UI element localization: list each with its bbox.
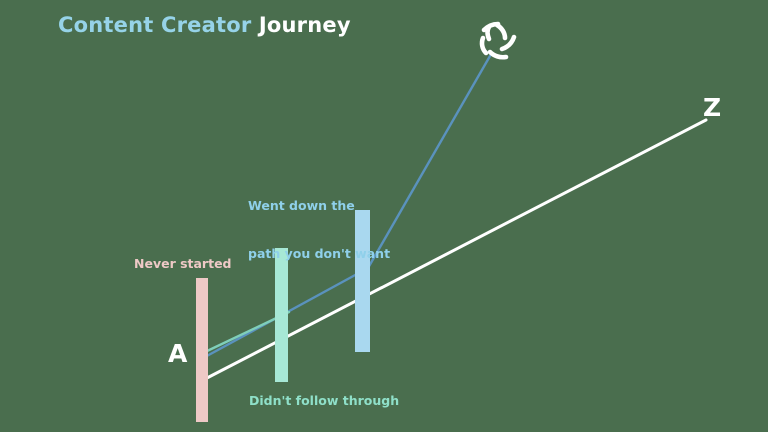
journey-diagram: Content Creator Journey Never started We…: [0, 0, 768, 432]
burst-icon: [482, 24, 514, 57]
never-started-barrier: [196, 278, 208, 422]
wrong-path-label-line2: path you don't want: [248, 246, 390, 262]
start-point-label: A: [168, 339, 187, 368]
wrong-path-label-line1: Went down the: [248, 198, 390, 214]
end-point-label: Z: [703, 93, 721, 122]
no-follow-through-label: Didn't follow through: [249, 393, 399, 409]
never-started-label: Never started: [134, 256, 232, 272]
wrong-path-label: Went down the path you don't want: [248, 166, 390, 294]
